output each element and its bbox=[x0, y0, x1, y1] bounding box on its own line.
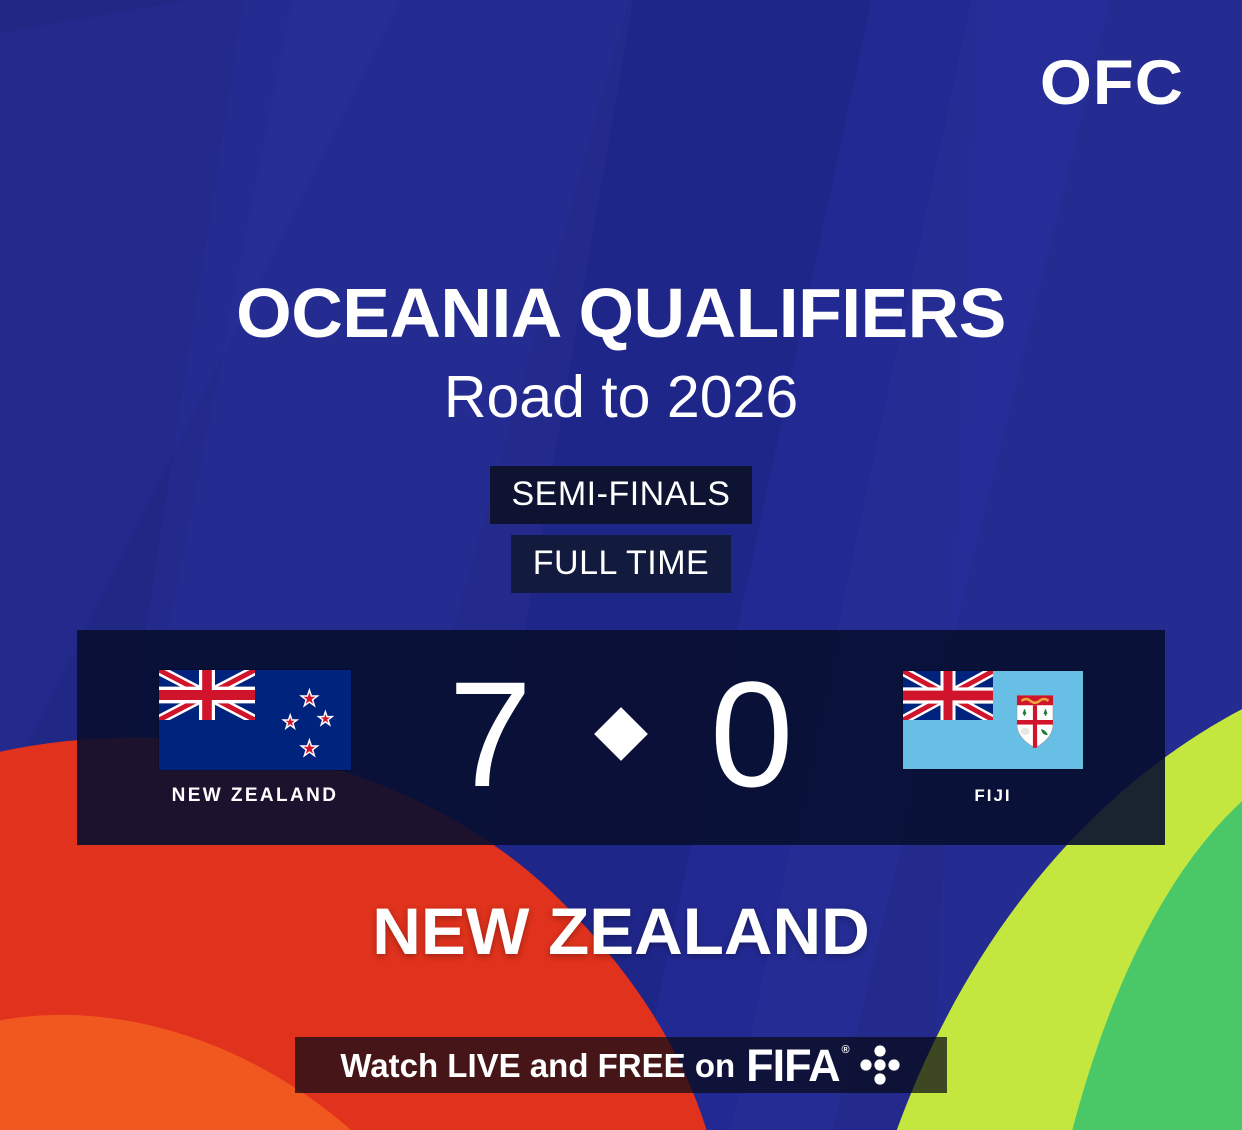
fiji-flag-icon bbox=[903, 671, 1083, 769]
home-team-name: NEW ZEALAND bbox=[172, 786, 339, 805]
new-zealand-flag-icon bbox=[159, 670, 351, 770]
away-score: 0 bbox=[710, 659, 793, 809]
away-team-name: FIJI bbox=[974, 787, 1011, 804]
status-badge: FULL TIME bbox=[511, 535, 731, 593]
diamond-separator-icon bbox=[594, 707, 648, 761]
page-subtitle: Road to 2026 bbox=[0, 368, 1242, 427]
broadcast-cta-banner[interactable]: Watch LIVE and FREE on FIFA ® bbox=[295, 1037, 947, 1093]
home-team: NEW ZEALAND bbox=[105, 670, 405, 805]
stage-badge: SEMI-FINALS bbox=[490, 466, 753, 524]
away-team: FIJI bbox=[843, 671, 1143, 804]
scoreboard-panel: NEW ZEALAND 7 0 bbox=[77, 630, 1165, 845]
match-result-graphic: OFC OCEANIA QUALIFIERS Road to 2026 SEMI… bbox=[0, 0, 1242, 1130]
fifa-wordmark: FIFA ® bbox=[746, 1043, 840, 1088]
fifa-dots-icon bbox=[858, 1043, 902, 1087]
home-score: 7 bbox=[449, 659, 532, 809]
title-block: OCEANIA QUALIFIERS Road to 2026 bbox=[0, 278, 1242, 427]
winner-label: NEW ZEALAND bbox=[0, 898, 1242, 964]
broadcast-cta-text: Watch LIVE and FREE on bbox=[340, 1049, 735, 1082]
ofc-logo-icon: OFC bbox=[1040, 52, 1184, 115]
fifa-trademark-symbol: ® bbox=[842, 1045, 849, 1056]
page-title: OCEANIA QUALIFIERS bbox=[0, 278, 1242, 348]
fifa-wordmark-text: FIFA bbox=[746, 1040, 840, 1091]
badge-group: SEMI-FINALS FULL TIME bbox=[0, 466, 1242, 593]
